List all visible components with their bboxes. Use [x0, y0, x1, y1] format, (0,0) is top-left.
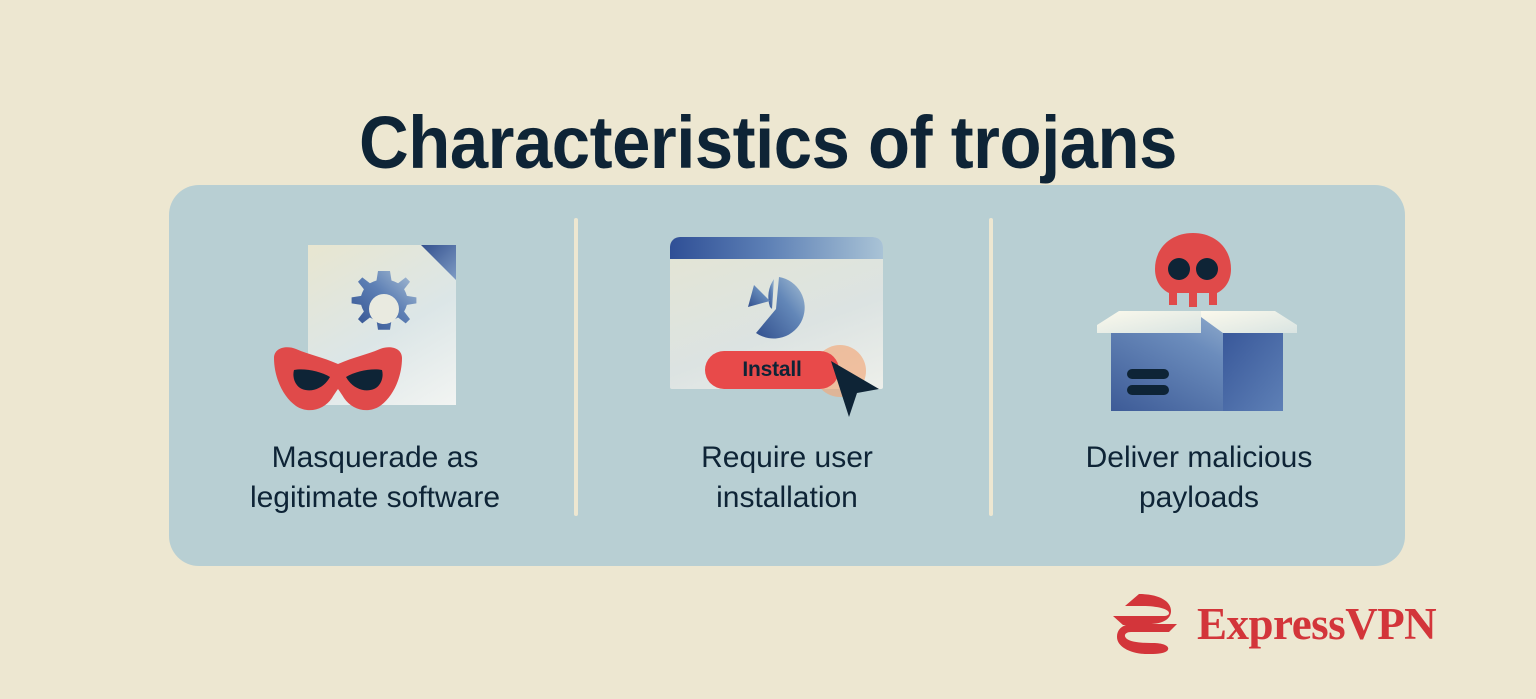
install-button[interactable]: Install: [705, 351, 839, 389]
pie-chart-icon: [734, 267, 812, 345]
open-box-icon: [1097, 307, 1297, 417]
expressvpn-logo[interactable]: ExpressVPN: [1113, 594, 1436, 654]
characteristic-item-user-installation: Install Require user installation: [581, 185, 993, 566]
characteristic-caption: Require user installation: [701, 438, 873, 518]
gear-icon: [344, 269, 424, 349]
characteristic-item-masquerade: Masquerade as legitimate software: [169, 185, 581, 566]
characteristics-columns: Masquerade as legitimate software: [169, 185, 1405, 566]
cursor-icon: [827, 359, 883, 421]
page-title: Characteristics of trojans: [54, 102, 1482, 183]
install-window-cursor-icon: Install: [581, 229, 993, 424]
characteristics-panel: Masquerade as legitimate software: [169, 185, 1405, 566]
window-title-bar: [670, 237, 883, 259]
mask-icon: [268, 344, 408, 414]
infographic-page: Characteristics of trojans: [0, 0, 1536, 699]
characteristic-caption: Deliver malicious payloads: [1086, 438, 1313, 518]
document-gear-mask-icon: [169, 229, 581, 424]
expressvpn-e-mark-icon: [1113, 594, 1181, 654]
expressvpn-wordmark: ExpressVPN: [1197, 602, 1436, 647]
characteristic-item-malicious-payloads: Deliver malicious payloads: [993, 185, 1405, 566]
characteristic-caption: Masquerade as legitimate software: [250, 438, 500, 518]
skull-icon: [1151, 233, 1235, 315]
skull-box-icon: [993, 229, 1405, 424]
